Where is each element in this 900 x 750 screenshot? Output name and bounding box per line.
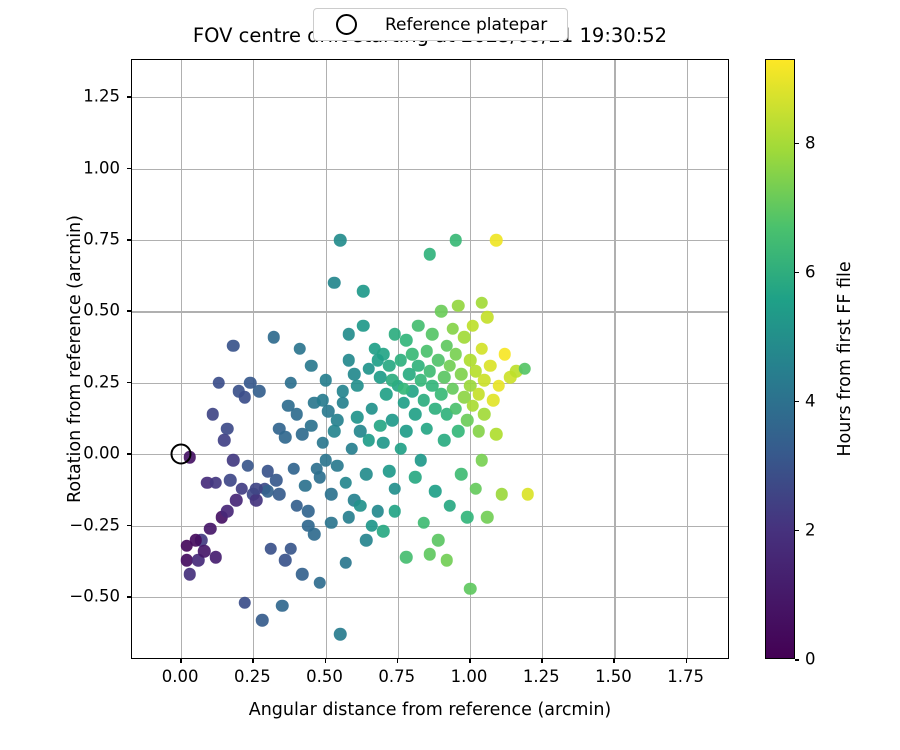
y-axis-label-wrap: Rotation from reference (arcmin) bbox=[30, 59, 31, 659]
open-circle-marker-icon bbox=[336, 14, 357, 35]
x-tick-mark bbox=[686, 659, 688, 663]
figure-canvas: FOV centre drift starting at 2025/09/21 … bbox=[0, 0, 900, 750]
y-tick-mark bbox=[127, 525, 131, 527]
x-tick-mark bbox=[397, 659, 399, 663]
colorbar-tick-label: 2 bbox=[805, 520, 816, 539]
y-tick-mark bbox=[127, 382, 131, 384]
y-tick-label: 1.25 bbox=[83, 87, 120, 106]
y-tick-mark bbox=[127, 96, 131, 98]
colorbar-tick-label: 8 bbox=[805, 133, 816, 152]
y-tick-label: 1.00 bbox=[83, 158, 120, 177]
x-tick-mark bbox=[469, 659, 471, 663]
y-tick-label: 0.25 bbox=[83, 372, 120, 391]
y-tick-mark bbox=[127, 596, 131, 598]
colorbar-tick-mark bbox=[795, 530, 799, 532]
colorbar-tick-label: 4 bbox=[805, 391, 816, 410]
x-tick-mark bbox=[541, 659, 543, 663]
y-tick-mark bbox=[127, 239, 131, 241]
colorbar-tick-mark bbox=[795, 401, 799, 403]
x-tick-label: 1.75 bbox=[667, 667, 704, 686]
x-tick-label: 1.25 bbox=[523, 667, 560, 686]
y-tick-label: 0.50 bbox=[83, 301, 120, 320]
y-tick-mark bbox=[127, 168, 131, 170]
y-tick-label: 0.00 bbox=[83, 444, 120, 463]
x-tick-label: 0.50 bbox=[306, 667, 343, 686]
colorbar-tick-mark bbox=[795, 659, 799, 661]
x-tick-label: 1.50 bbox=[595, 667, 632, 686]
x-axis-label: Angular distance from reference (arcmin) bbox=[131, 700, 729, 720]
x-tick-label: 0.25 bbox=[234, 667, 271, 686]
colorbar-tick-mark bbox=[795, 143, 799, 145]
colorbar-tick-label: 6 bbox=[805, 262, 816, 281]
y-tick-label: −0.50 bbox=[69, 587, 120, 606]
x-tick-mark bbox=[252, 659, 254, 663]
legend-label: Reference platepar bbox=[385, 15, 555, 35]
x-tick-mark bbox=[613, 659, 615, 663]
x-tick-label: 0.75 bbox=[378, 667, 415, 686]
colorbar-gradient bbox=[765, 59, 795, 659]
y-axis-label: Rotation from reference (arcmin) bbox=[65, 199, 85, 519]
y-tick-mark bbox=[127, 453, 131, 455]
colorbar: 02468 bbox=[765, 59, 795, 659]
x-tick-mark bbox=[325, 659, 327, 663]
x-tick-mark bbox=[180, 659, 182, 663]
x-tick-label: 0.00 bbox=[162, 667, 199, 686]
colorbar-label: Hours from first FF file bbox=[835, 209, 855, 509]
colorbar-tick-mark bbox=[795, 272, 799, 274]
x-tick-label: 1.00 bbox=[451, 667, 488, 686]
legend-box[interactable]: Reference platepar bbox=[313, 8, 568, 41]
colorbar-label-wrap: Hours from first FF file bbox=[845, 59, 846, 659]
axis-ticks-layer: 0.000.250.500.751.001.251.501.75−0.50−0.… bbox=[131, 59, 729, 659]
y-tick-label: 0.75 bbox=[83, 230, 120, 249]
y-tick-mark bbox=[127, 310, 131, 312]
colorbar-tick-label: 0 bbox=[805, 650, 816, 669]
reference-platepar-marker bbox=[171, 444, 192, 465]
